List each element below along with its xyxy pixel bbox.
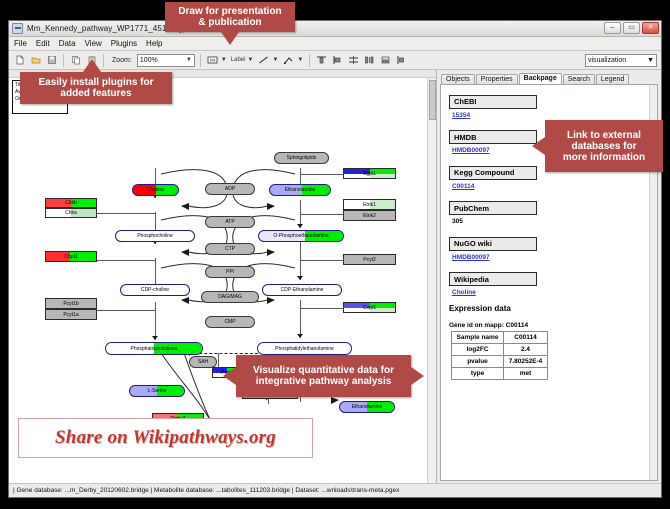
value-pubchem: 305: [452, 218, 657, 225]
new-document-icon[interactable]: [13, 54, 26, 67]
section-header-hmdb: HMDB: [449, 130, 537, 144]
toolbar-separator: [103, 54, 104, 67]
annotation-links-line3: more information: [563, 152, 645, 163]
distribute-icon[interactable]: [347, 54, 360, 67]
cell-value: C00114: [504, 332, 548, 344]
link-nugo[interactable]: HMDB00097: [452, 254, 657, 261]
tab-backpage[interactable]: Backpage: [519, 73, 562, 84]
open-folder-icon[interactable]: [29, 54, 42, 67]
metabolite-l-serine-left[interactable]: L-Serine: [129, 385, 185, 397]
stack-icon[interactable]: [379, 54, 392, 67]
chevron-down-icon[interactable]: ▼: [647, 57, 654, 64]
annotation-plugins-line1: Easily install plugins for: [38, 77, 153, 88]
annotation-visualize-line2: integrative pathway analysis: [256, 376, 392, 387]
scrollbar-thumb[interactable]: [429, 80, 436, 120]
menu-edit[interactable]: Edit: [36, 39, 50, 48]
metabolite-phosphatidylethanolamine[interactable]: Phosphatidylethanolamine: [257, 342, 352, 355]
node-label: CMP: [224, 319, 235, 325]
node-label: Pcyt1b: [63, 301, 78, 307]
annotation-links-line2: databases for: [571, 141, 636, 152]
section-header-wikipedia: Wikipedia: [449, 272, 537, 286]
cell-value: 7.80252E-4: [504, 356, 548, 368]
node-label: CDP-Ethanolamine: [281, 287, 324, 293]
arrowhead-icon: [297, 334, 303, 338]
annotation-visualize-arrow-icon: [223, 367, 236, 385]
annotation-links-line1: Link to external: [567, 130, 641, 141]
node-label: O-Phosphoethanolamine: [273, 233, 328, 239]
annotation-visualize-line1: Visualize quantitative data for: [253, 365, 394, 376]
annotation-plugins-arrow-icon: [83, 59, 101, 72]
cell-key: type: [452, 368, 504, 380]
metabolite-sphingolipids[interactable]: Sphingolipids: [274, 152, 329, 164]
gene-cept1[interactable]: Cept1: [343, 302, 396, 313]
expression-table: Sample name C00114 log2FC 2.4 pvalue 7.8…: [451, 331, 548, 380]
node-label: Chkb: [65, 200, 77, 206]
table-row: type met: [452, 368, 548, 380]
link-wikipedia[interactable]: Choline: [452, 289, 657, 296]
edge: [155, 302, 156, 340]
metabolite-ppi[interactable]: PPi: [205, 266, 255, 278]
annotation-links: Link to external databases for more info…: [545, 120, 663, 172]
section-header-chebi: ChEBI: [449, 95, 537, 109]
annotation-visualize: Visualize quantitative data for integrat…: [236, 355, 411, 397]
save-icon[interactable]: [45, 54, 58, 67]
annotation-draw-arrow-icon: [221, 32, 239, 45]
annotation-draw-line1: Draw for presentation: [178, 6, 281, 17]
datanode-icon[interactable]: DN: [206, 54, 219, 67]
node-label: Ethanolamine: [285, 187, 316, 193]
cell-key: pvalue: [452, 356, 504, 368]
chevron-down-icon[interactable]: ▼: [186, 57, 192, 63]
node-label: ADP: [225, 186, 235, 192]
maximize-button[interactable]: ▭: [623, 22, 640, 34]
expression-data-title: Expression data: [449, 304, 657, 313]
minimize-button[interactable]: –: [604, 22, 621, 34]
cell-value: met: [504, 368, 548, 380]
visualization-combo[interactable]: visualization ▼: [585, 54, 657, 67]
visualization-value: visualization: [588, 57, 626, 64]
edge: [300, 242, 301, 280]
zoom-label: Zoom:: [112, 57, 132, 64]
title-bar: Mm_Kennedy_pathway_WP1771_45176.gpml – ▭…: [9, 21, 661, 37]
gene-chkb[interactable]: Chkb: [45, 198, 97, 208]
metabolite-ctp[interactable]: CTP: [205, 243, 255, 255]
svg-text:DN: DN: [209, 58, 215, 63]
window-controls[interactable]: – ▭ ✕: [604, 22, 659, 34]
menu-file[interactable]: File: [14, 39, 27, 48]
link-chebi[interactable]: 15354: [452, 112, 657, 119]
cell-key: Sample name: [452, 332, 504, 344]
gene-pcyt1b[interactable]: Pcyt1b: [45, 298, 97, 309]
edge: [300, 260, 344, 261]
node-label: Phosphocholine: [137, 233, 173, 239]
gene-chka[interactable]: Chka: [45, 208, 97, 218]
node-label: CTP: [225, 246, 235, 252]
node-label: Chpt1: [64, 254, 77, 260]
gene-sgpl1[interactable]: Sgpl1: [343, 168, 396, 179]
chevron-down-icon[interactable]: ▼: [247, 57, 253, 63]
node-label: L-Serine: [148, 388, 167, 394]
metabolite-cdp-choline[interactable]: CDP-choline: [120, 284, 190, 296]
annotation-share-text: Share on Wikipathways.org: [55, 427, 276, 449]
annotation-links-arrow-icon: [532, 137, 545, 155]
gene-pcyt1a[interactable]: Pcyt1a: [45, 309, 97, 320]
node-label: Pcyt1a: [63, 312, 78, 318]
link-kegg[interactable]: C00114: [452, 183, 657, 190]
arrowhead-icon: [152, 336, 158, 340]
edge: [300, 300, 301, 338]
annotation-share-box: Share on Wikipathways.org: [18, 418, 313, 458]
metabolite-ethanolamine-bottom[interactable]: Ethanolamine: [339, 401, 395, 413]
edge: [300, 308, 344, 309]
table-row: pvalue 7.80252E-4: [452, 356, 548, 368]
align-left-icon[interactable]: [331, 54, 344, 67]
node-label: SAH: [198, 359, 208, 365]
gene-chpt1[interactable]: Chpt1: [45, 251, 97, 262]
metabolite-cmp[interactable]: CMP: [205, 316, 255, 328]
gene-etnk1[interactable]: Etnk1: [343, 199, 396, 210]
metabolite-choline[interactable]: Choline: [132, 184, 179, 196]
gene-pcyt2[interactable]: Pcyt2: [343, 254, 396, 265]
annotation-visualize-arrow-right-icon: [411, 367, 424, 385]
line-tool-icon[interactable]: [257, 54, 270, 67]
node-label: Pcyt2: [363, 257, 376, 263]
zoom-value: 100%: [140, 57, 158, 64]
metabolite-atp[interactable]: ATP: [205, 216, 255, 228]
spacing-icon[interactable]: [363, 54, 376, 67]
annotation-draw: Draw for presentation & publication: [165, 2, 295, 32]
cell-key: log2FC: [452, 344, 504, 356]
status-text: | Gene database: ...m_Derby_20120602.bri…: [13, 487, 399, 494]
edge: [97, 213, 155, 214]
gene-id-line: Gene id on mapp: C00114: [449, 322, 657, 329]
section-header-kegg: Kegg Compound: [449, 166, 537, 180]
edge: [97, 260, 155, 261]
annotation-plugins: Easily install plugins for added feature…: [20, 72, 172, 104]
zoom-combo[interactable]: 100% ▼: [137, 54, 195, 67]
edge: [300, 214, 344, 215]
menu-bar: File Edit Data View Plugins Help: [9, 37, 661, 51]
arrowhead-icon: [297, 276, 303, 280]
toolbar-separator: [200, 54, 201, 67]
align-top-icon[interactable]: [315, 54, 328, 67]
node-label: Chka: [65, 210, 77, 216]
node-label: CDP-choline: [141, 287, 169, 293]
metabolite-cdp-ethanolamine[interactable]: CDP-Ethanolamine: [262, 284, 342, 296]
menu-help[interactable]: Help: [146, 39, 162, 48]
edge: [218, 353, 219, 367]
tab-properties[interactable]: Properties: [476, 74, 518, 84]
label-tool-label[interactable]: Label: [231, 57, 246, 63]
node-label: Ethanolamine: [352, 404, 383, 410]
status-bar: | Gene database: ...m_Derby_20120602.bri…: [9, 483, 661, 497]
tab-objects[interactable]: Objects: [441, 74, 475, 84]
node-label: Sgpl1: [363, 171, 376, 177]
chevron-down-icon[interactable]: ▼: [297, 57, 303, 63]
arrowhead-icon: [297, 224, 303, 228]
annotation-draw-line2: & publication: [198, 17, 261, 28]
node-label: Choline: [147, 187, 164, 193]
tab-legend[interactable]: Legend: [596, 74, 629, 84]
toolbar-separator: [63, 54, 64, 67]
chevron-down-icon[interactable]: ▼: [272, 57, 278, 63]
menu-data[interactable]: Data: [59, 39, 76, 48]
tab-search[interactable]: Search: [563, 74, 595, 84]
section-header-pubchem: PubChem: [449, 201, 537, 215]
section-header-nugo: NuGO wiki: [449, 237, 537, 251]
app-icon: [12, 23, 23, 34]
edge: [300, 174, 344, 175]
canvas-vertical-scrollbar[interactable]: [427, 78, 436, 483]
node-label: Etnk2: [363, 213, 376, 219]
metabolite-adp[interactable]: ADP: [205, 183, 255, 195]
node-label: Etnk1: [363, 202, 376, 208]
node-label: Phosphatidylethanolamine: [275, 346, 334, 352]
metabolite-o-phosphoethanolamine[interactable]: O-Phosphoethanolamine: [258, 230, 344, 242]
node-label: ATP: [225, 219, 234, 225]
node-label: Cept1: [363, 305, 376, 311]
annotation-plugins-line2: added features: [60, 88, 131, 99]
chevron-down-icon[interactable]: ▼: [221, 57, 227, 63]
node-label: PPi: [226, 269, 234, 275]
side-panel-tabs: Objects Properties Backpage Search Legen…: [437, 70, 661, 84]
metabolite-dag-mag[interactable]: DAG/MAG: [201, 291, 259, 303]
metabolite-ethanolamine[interactable]: Ethanolamine: [269, 184, 331, 196]
metabolite-phosphocholine[interactable]: Phosphocholine: [115, 230, 195, 242]
metabolite-phosphatidylcholines[interactable]: Phosphatidylcholines: [105, 342, 203, 355]
table-row: log2FC 2.4: [452, 344, 548, 356]
toolbar-separator: [309, 54, 310, 67]
toolbar: Zoom: 100% ▼ DN ▼ Label ▼ ▼ ▼: [9, 51, 661, 70]
menu-plugins[interactable]: Plugins: [111, 39, 137, 48]
order-icon[interactable]: [395, 54, 408, 67]
close-button[interactable]: ✕: [642, 22, 659, 34]
table-row: Sample name C00114: [452, 332, 548, 344]
shape-tool-icon[interactable]: [282, 54, 295, 67]
cell-value: 2.4: [504, 344, 548, 356]
node-label: Phosphatidylcholines: [131, 346, 178, 352]
menu-view[interactable]: View: [85, 39, 102, 48]
node-label: Sphingolipids: [287, 155, 317, 161]
copy-icon[interactable]: [69, 54, 82, 67]
gene-etnk2[interactable]: Etnk2: [343, 210, 396, 221]
node-label: DAG/MAG: [218, 294, 242, 300]
edge: [97, 310, 155, 311]
